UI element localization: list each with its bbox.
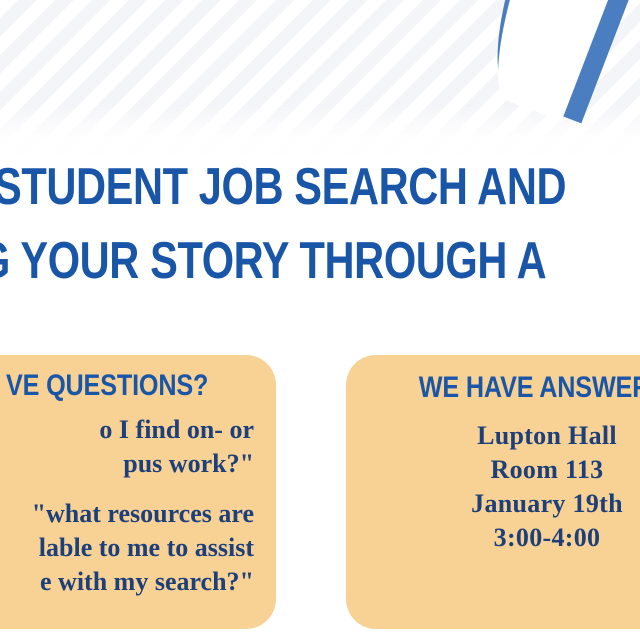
event-building: Lupton Hall <box>398 419 640 453</box>
event-date: January 19th <box>398 487 640 521</box>
panel-we-have-answers: WE HAVE ANSWERS Lupton Hall Room 113 Jan… <box>346 355 640 629</box>
event-time: 3:00-4:00 <box>398 521 640 555</box>
question-item-1: o I find on- or pus work?" <box>0 413 262 481</box>
question-1-line-1: o I find on- or <box>0 413 254 447</box>
headline-block: STUDENT JOB SEARCH AND G YOUR STORY THRO… <box>0 150 640 298</box>
panel-divider-gap <box>276 350 346 639</box>
headline-line-2: G YOUR STORY THROUGH A <box>0 224 508 298</box>
panel-we-have-questions: VE QUESTIONS? o I find on- or pus work?"… <box>0 355 276 629</box>
answers-panel-heading: WE HAVE ANSWERS <box>374 369 640 407</box>
question-1-line-2: pus work?" <box>0 447 254 481</box>
question-2-line-3: e with my search?" <box>0 565 254 599</box>
question-2-line-1: "what resources are <box>0 497 254 531</box>
flyer-poster: STUDENT JOB SEARCH AND G YOUR STORY THRO… <box>0 0 640 639</box>
question-2-line-2: lable to me to assist <box>0 531 254 565</box>
headline-line-1: STUDENT JOB SEARCH AND <box>0 150 511 224</box>
event-room: Room 113 <box>398 453 640 487</box>
question-item-2: "what resources are lable to me to assis… <box>0 497 262 599</box>
questions-panel-heading: VE QUESTIONS? <box>0 367 262 405</box>
event-details: Lupton Hall Room 113 January 19th 3:00-4… <box>346 419 640 555</box>
